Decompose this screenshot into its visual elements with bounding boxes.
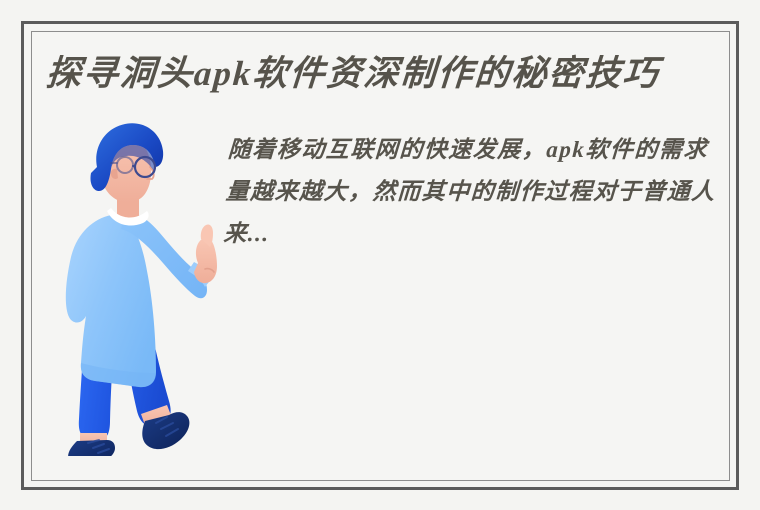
- head: [90, 123, 163, 202]
- person-pointing-illustration: [55, 111, 225, 456]
- pointing-hand: [194, 224, 217, 283]
- article-excerpt: 随着移动互联网的快速发展，apk软件的需求量越来越大，然而其中的制作过程对于普通…: [222, 129, 728, 255]
- card-content: 探寻洞头apk软件资深制作的秘密技巧 随着移动互联网的快速发展，apk软件的需求…: [33, 33, 728, 479]
- left-shoe: [68, 440, 115, 456]
- article-title: 探寻洞头apk软件资深制作的秘密技巧: [45, 53, 718, 95]
- article-card: 探寻洞头apk软件资深制作的秘密技巧 随着移动互联网的快速发展，apk软件的需求…: [0, 0, 760, 510]
